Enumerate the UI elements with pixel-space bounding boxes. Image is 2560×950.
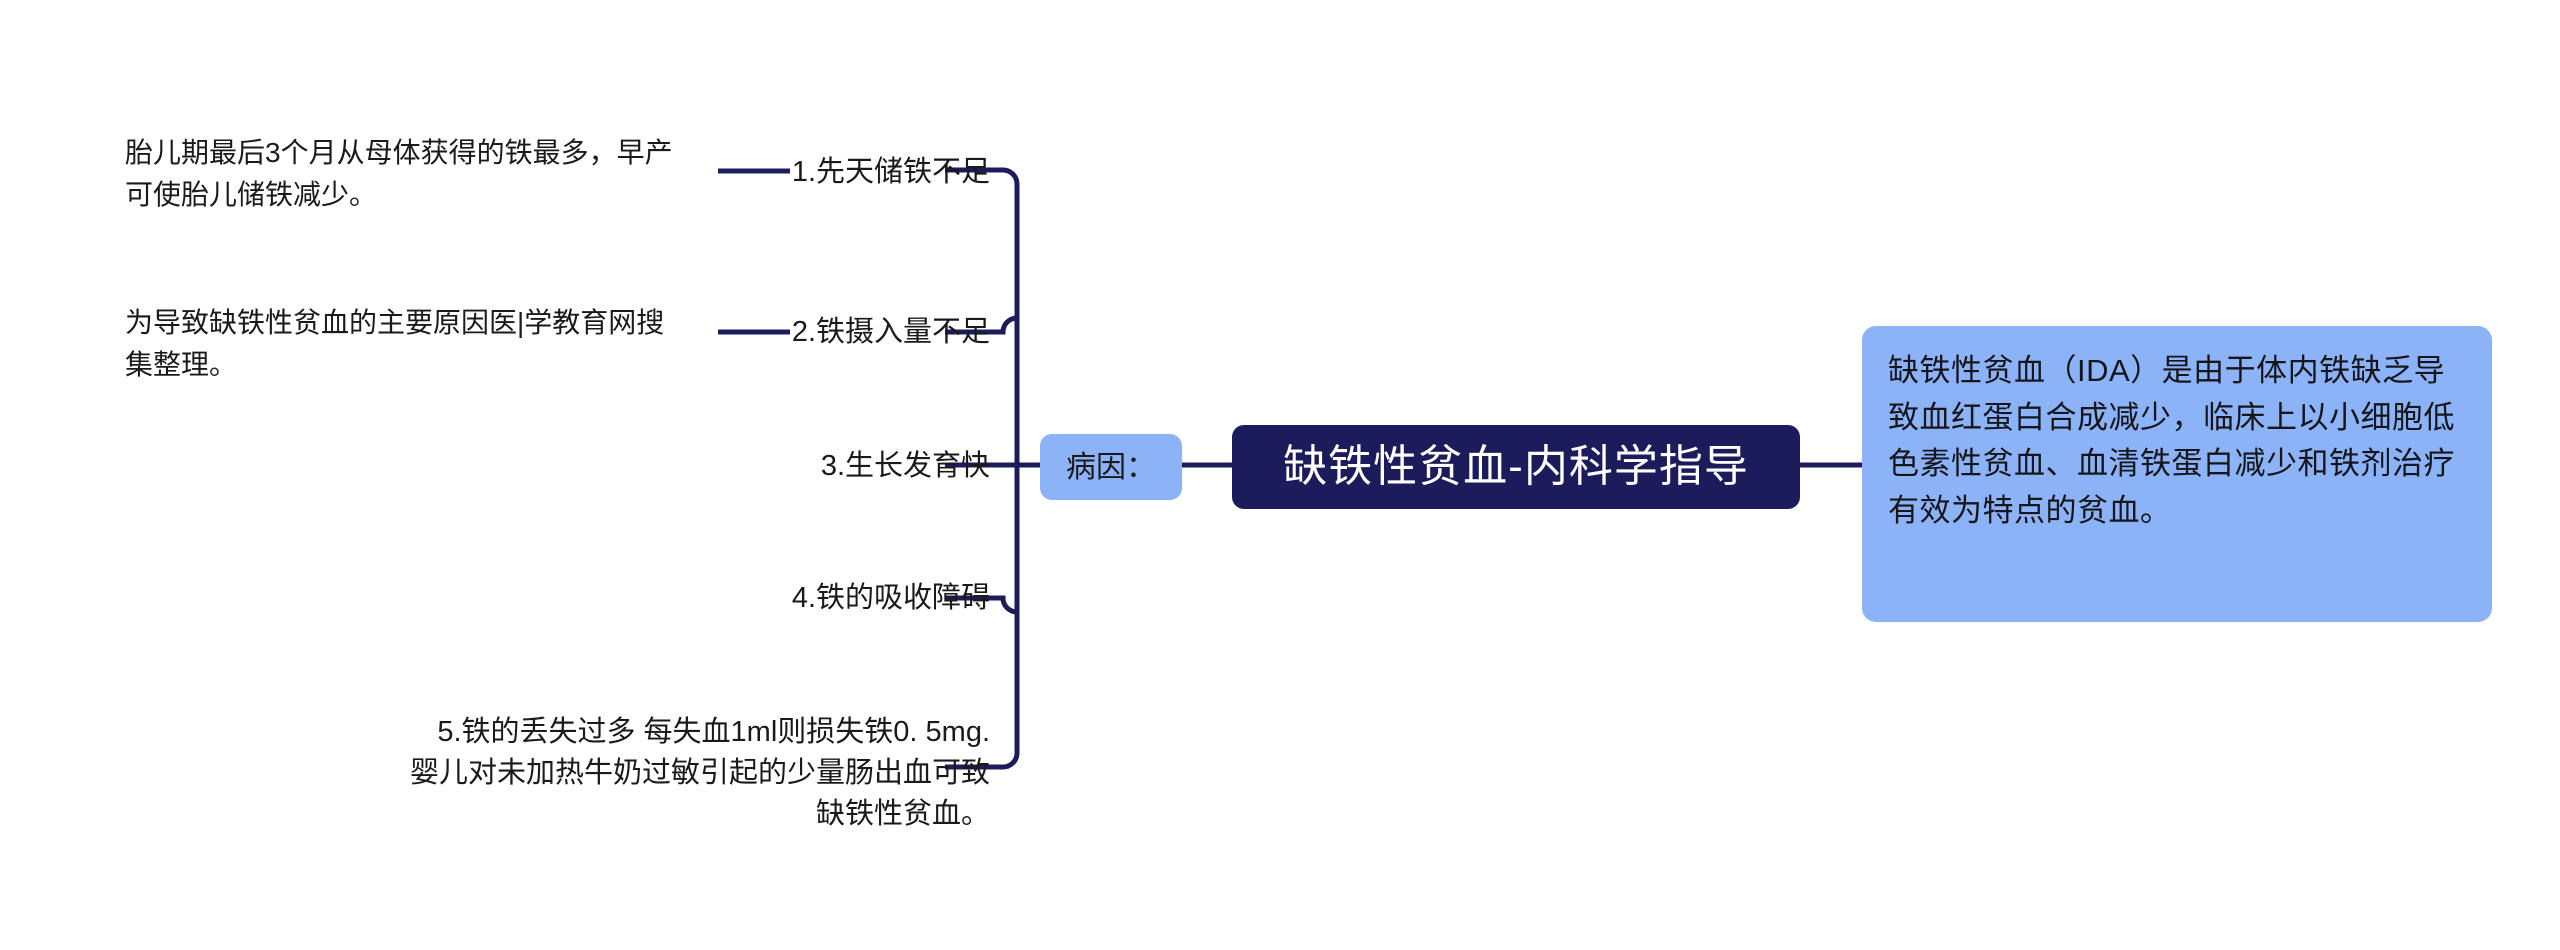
branch-label-4[interactable]: 4.铁的吸收障碍 <box>560 578 990 619</box>
branch-label-1[interactable]: 1.先天储铁不足 <box>560 152 990 193</box>
root-node-label: 缺铁性贫血-内科学指导 <box>1283 443 1749 491</box>
root-node[interactable]: 缺铁性贫血-内科学指导 <box>1232 425 1800 509</box>
category-node-label: 病因： <box>1066 451 1156 484</box>
branch-label-5[interactable]: 5.铁的丢失过多 每失血1ml则损失铁0. 5mg. 婴儿对未加热牛奶过敏引起的… <box>380 712 990 836</box>
category-node-cause[interactable]: 病因： <box>1040 434 1182 500</box>
branch-label-2[interactable]: 2.铁摄入量不足 <box>560 312 990 353</box>
info-panel[interactable]: 缺铁性贫血（IDA）是由于体内铁缺乏导致血红蛋白合成减少，临床上以小细胞低色素性… <box>1862 326 2492 622</box>
branch-label-3[interactable]: 3.生长发育快 <box>560 446 990 487</box>
info-panel-text: 缺铁性贫血（IDA）是由于体内铁缺乏导致血红蛋白合成减少，临床上以小细胞低色素性… <box>1888 348 2466 534</box>
mindmap-canvas: 胎儿期最后3个月从母体获得的铁最多，早产 可使胎儿储铁减少。 为导致缺铁性贫血的… <box>0 0 2560 950</box>
